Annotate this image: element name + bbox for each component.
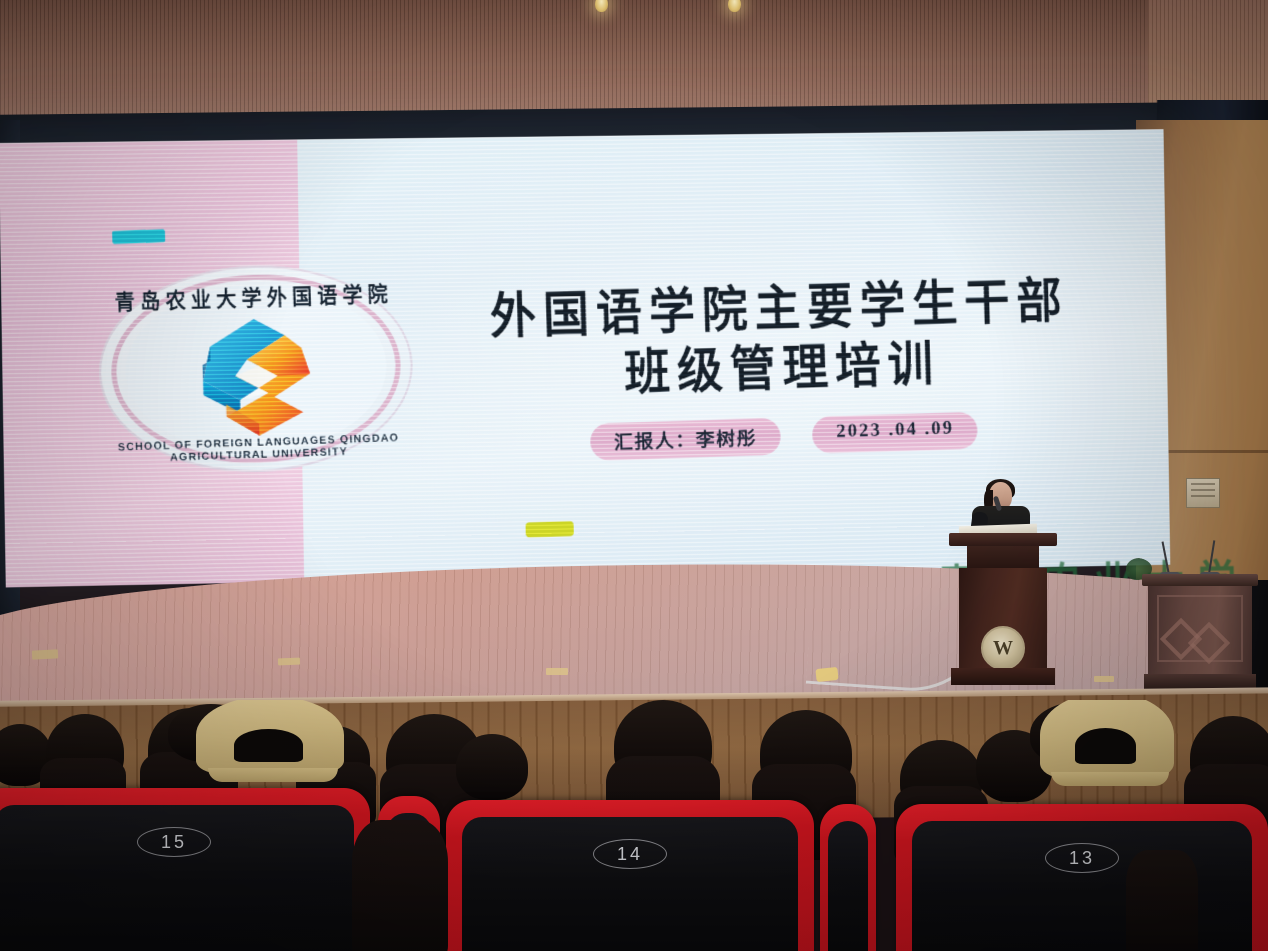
- audience-area: 15 14 13: [0, 700, 1268, 951]
- lectern: W: [955, 533, 1051, 685]
- lectern-neck: [967, 546, 1039, 568]
- auditorium-photo: 青岛农业大学外国语学院: [0, 0, 1268, 951]
- floor-marker: [546, 668, 568, 675]
- seat-back-panel: 14: [462, 817, 798, 951]
- seat-back-panel: 15: [0, 805, 354, 951]
- cap-back-opening: [1075, 728, 1137, 764]
- baseball-cap: [196, 700, 344, 774]
- cable-tape-marker: [815, 667, 838, 682]
- cap-back-opening: [234, 729, 302, 762]
- seat-number-badge: 15: [137, 827, 211, 857]
- foreground-person-hair: [1126, 850, 1198, 951]
- lectern-body: W: [959, 568, 1047, 668]
- slide-title-block: 外国语学院主要学生干部 班级管理培训 汇报人：李树彤 2023 .04 .09: [415, 273, 1145, 466]
- seat-back-panel: 13: [912, 821, 1252, 951]
- letter-s-cube-mark-icon: [178, 300, 334, 438]
- baseball-cap: [1040, 700, 1174, 778]
- side-table-body: [1148, 586, 1252, 674]
- foreground-person-hair: [352, 820, 448, 951]
- presenter-pill: 汇报人：李树彤: [590, 418, 782, 461]
- side-lectern-table: [1148, 574, 1252, 692]
- floor-marker: [278, 658, 300, 666]
- audience-head: [456, 734, 528, 800]
- ceiling-lamp-icon: [728, 0, 741, 12]
- floor-marker: [1094, 676, 1114, 682]
- wall-sign-plaque: [1186, 478, 1220, 508]
- school-logo-badge: 青岛农业大学外国语学院: [96, 261, 416, 477]
- deco-cyan-bar: [112, 229, 165, 244]
- seat-14[interactable]: 14: [446, 800, 814, 951]
- floor-marker: [32, 649, 58, 659]
- date-pill: 2023 .04 .09: [812, 412, 978, 454]
- seat-back-panel: [828, 821, 868, 951]
- lectern-top: [949, 533, 1057, 546]
- lectern-base: [951, 668, 1055, 685]
- ceiling-lamp-icon: [595, 0, 608, 12]
- side-table-top: [1142, 574, 1258, 586]
- deco-yellow-bar: [525, 521, 573, 537]
- seat-number-badge: 13: [1045, 843, 1119, 873]
- seat-13[interactable]: 13: [896, 804, 1268, 951]
- university-seal-icon: W: [981, 626, 1025, 670]
- seat-number-badge: 14: [593, 839, 667, 869]
- seat-divider[interactable]: [820, 804, 876, 951]
- seat-15[interactable]: 15: [0, 788, 370, 951]
